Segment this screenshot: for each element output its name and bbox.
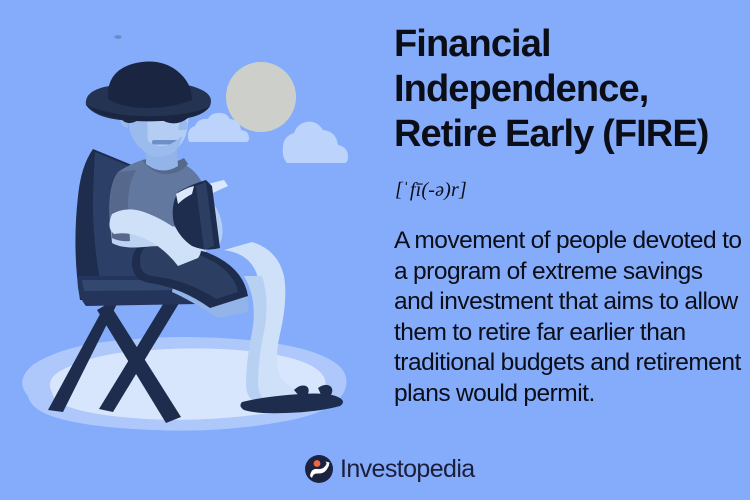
investopedia-logo[interactable]: Investopedia [304,454,475,484]
investopedia-logo-icon [304,454,334,484]
term-pronunciation: [ˈfī(-ə)r] [395,178,467,202]
logo-accent-dot [314,460,321,467]
bird-speck-icon [114,35,121,39]
fire-definition-card: Financial Independence, Retire Early (FI… [0,0,750,500]
illustration [0,0,380,500]
illustration-svg [0,0,380,500]
term-title: Financial Independence, Retire Early (FI… [394,22,750,157]
logo-circle [305,455,333,483]
term-definition: A movement of people devoted to a progra… [394,226,746,409]
text-column: Financial Independence, Retire Early (FI… [394,0,746,500]
brand-name: Investopedia [340,455,475,483]
